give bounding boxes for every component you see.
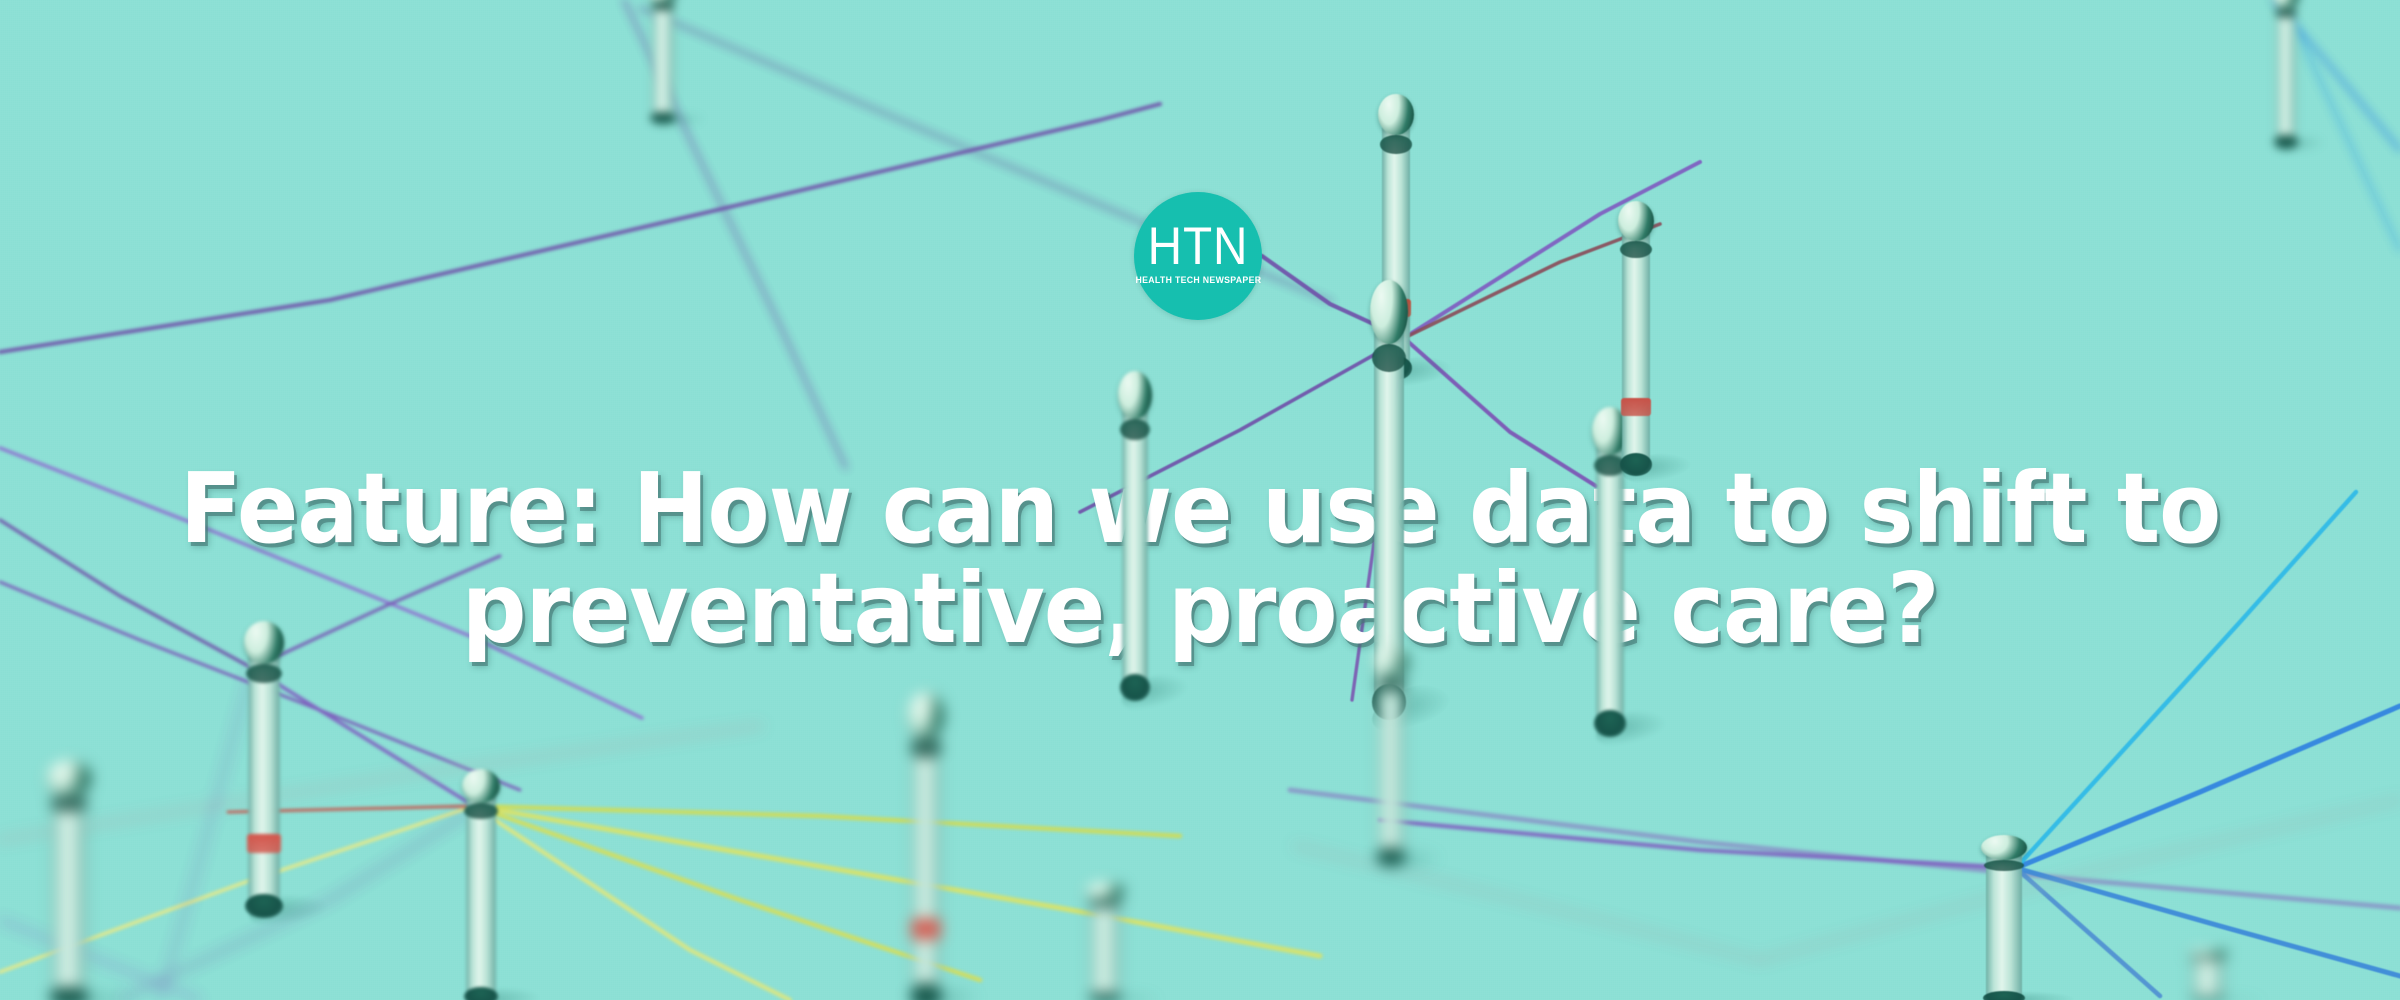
network-thread: [252, 556, 500, 668]
pin-collar: [1620, 241, 1651, 259]
network-thread: [1404, 162, 1700, 338]
pin-collar: [1380, 135, 1411, 153]
pin-base: [1620, 453, 1652, 476]
pin-head: [1086, 882, 1124, 900]
logo-wordmark: HTN: [1148, 222, 1249, 272]
pin-head: [1378, 94, 1414, 136]
network-thread: [474, 806, 1320, 956]
pin-head: [47, 760, 91, 796]
network-pin: [52, 776, 86, 1000]
network-pin: [652, 0, 674, 120]
pin-head: [908, 692, 944, 738]
network-pin: [1622, 218, 1650, 468]
thread-layer: [0, 0, 2400, 1000]
network-pin: [1986, 846, 2022, 1000]
pin-collar: [1372, 344, 1406, 372]
network-thread: [0, 520, 252, 668]
pin-colour-band: [247, 834, 280, 853]
pin-collar: [1984, 860, 2024, 871]
pin-head: [1981, 835, 2027, 860]
thread-group-near: [1080, 162, 2400, 996]
pin-base: [650, 112, 676, 124]
network-thread: [1296, 846, 1760, 960]
pin-collar: [1088, 900, 1122, 908]
network-thread: [0, 726, 760, 840]
pin-collar: [2190, 956, 2226, 959]
pin-base: [2274, 135, 2297, 149]
pin-head: [1374, 646, 1407, 678]
network-thread: [160, 668, 252, 1000]
pin-base: [1088, 993, 1123, 1000]
htn-logo[interactable]: HTN HEALTH TECH NEWSPAPER: [1134, 192, 1262, 320]
network-pin: [1378, 660, 1404, 860]
pin-base: [1120, 674, 1150, 701]
pin-collar: [651, 2, 676, 11]
pin-collar: [50, 796, 88, 812]
network-thread: [474, 806, 980, 980]
network-pin: [466, 784, 496, 1000]
network-pin: [1596, 428, 1624, 728]
pin-colour-band: [911, 919, 940, 939]
network-pin: [1090, 890, 1120, 1000]
thread-group-far: [624, 0, 2400, 468]
pin-base: [1376, 848, 1406, 866]
network-thread: [474, 806, 1180, 836]
pin-base: [464, 987, 499, 1000]
pin-base: [1983, 991, 2025, 1000]
network-pin: [2192, 952, 2224, 1000]
pin-collar: [2275, 8, 2297, 19]
pin-collar: [910, 738, 941, 758]
article-hero-banner: HTN HEALTH TECH NEWSPAPER Feature: How c…: [0, 0, 2400, 1000]
network-illustration: [0, 0, 2400, 1000]
pin-shaft: [2276, 0, 2296, 144]
logo-tagline: HEALTH TECH NEWSPAPER: [1135, 275, 1261, 286]
pin-head: [1618, 201, 1654, 241]
network-pin: [1122, 392, 1148, 692]
network-thread: [2016, 492, 2356, 868]
pin-colour-band: [1621, 398, 1650, 416]
pin-base: [245, 894, 282, 918]
pin-base: [1594, 710, 1626, 737]
network-pin: [248, 640, 280, 910]
network-pin: [2276, 0, 2296, 144]
network-pin: [912, 712, 940, 1000]
pin-shaft: [652, 0, 674, 120]
network-thread: [1290, 790, 2400, 908]
pin-collar: [1376, 678, 1405, 692]
thread-group-foreground: [0, 668, 2400, 1000]
pin-head: [1118, 371, 1151, 419]
pin-collar: [464, 803, 498, 818]
pin-collar: [1120, 419, 1149, 440]
pin-head: [1370, 280, 1408, 344]
network-thread: [0, 104, 1160, 352]
